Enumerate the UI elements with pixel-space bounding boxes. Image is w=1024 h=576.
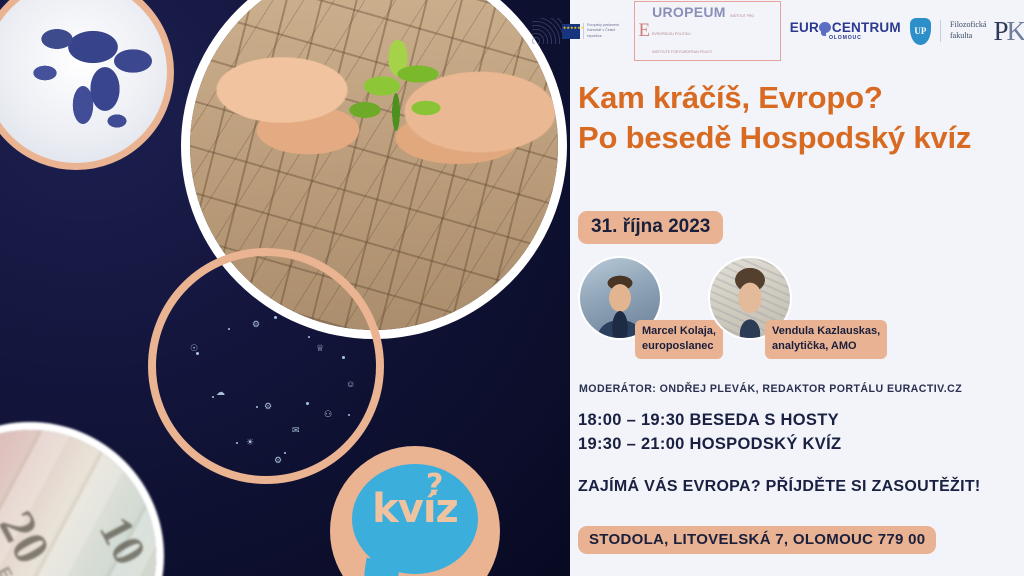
europeum-wordmark: UROPEUM bbox=[652, 4, 726, 20]
europeum-subtitle-en: INSTITUTE FOR EUROPEAN POLICY bbox=[652, 50, 712, 54]
moderator-line: MODERÁTOR: ONDŘEJ PLEVÁK, REDAKTOR PORTÁ… bbox=[579, 383, 962, 395]
parliament-logo-line2: Kancelář v České republice bbox=[587, 28, 615, 37]
speaker-1-name: Marcel Kolaja, bbox=[642, 325, 716, 337]
digital-globe-photo: ☉ ⚙ ♕ ☺ ☁ ⚙ ✉ ⚇ ☀ ⚙ bbox=[148, 248, 384, 484]
kviz-logo-label: kvíz bbox=[330, 486, 500, 532]
speaker-card-1: Marcel Kolaja, europoslanec bbox=[580, 258, 660, 338]
event-date-badge: 31. října 2023 bbox=[578, 211, 723, 244]
logo-filozoficka-fakulta: Filozofická fakulta PK bbox=[940, 20, 1024, 43]
logo-eurocentrum: EUR CENTRUM OLOMOUC bbox=[790, 21, 901, 42]
partner-logo-bar: Evropský parlament Kancelář v České repu… bbox=[532, 8, 1024, 54]
eu-flag-icon bbox=[562, 24, 580, 39]
europeum-initial: E bbox=[638, 23, 650, 38]
banknote-value-10: 10 bbox=[89, 508, 156, 573]
venue-address-badge: STODOLA, LITOVELSKÁ 7, OLOMOUC 779 00 bbox=[578, 526, 936, 554]
event-schedule: 18:00 – 19:30 BESEDA S HOSTY 19:30 – 21:… bbox=[578, 408, 841, 456]
page-title: Kam kráčíš, Evropo? Po besedě Hospodský … bbox=[578, 78, 1024, 159]
banknote-value-20: 20 bbox=[0, 501, 62, 572]
schedule-item-1: 18:00 – 19:30 BESEDA S HOSTY bbox=[578, 408, 841, 432]
eurocentrum-wordmark-part2: CENTRUM bbox=[832, 21, 901, 35]
speaker-card-2: Vendula Kazlauskas, analytička, AMO bbox=[710, 258, 790, 338]
speaker-2-name: Vendula Kazlauskas, bbox=[772, 325, 880, 337]
schedule-item-2: 19:30 – 21:00 HOSPODSKÝ KVÍZ bbox=[578, 432, 841, 456]
pk-monogram-icon: PK bbox=[993, 20, 1024, 43]
logo-european-parliament: Evropský parlament Kancelář v České repu… bbox=[532, 18, 625, 44]
logo-europeum: E UROPEUM INSTITUT PRO EVROPSKOU POLITIK… bbox=[634, 1, 780, 61]
title-line-1: Kam kráčíš, Evropo? bbox=[578, 80, 883, 115]
eurocentrum-city: OLOMOUC bbox=[790, 35, 901, 41]
faculty-name-line2: fakulta bbox=[950, 31, 972, 40]
speaker-2-role: analytička, AMO bbox=[772, 340, 857, 352]
up-olomouc-shield-icon: UP bbox=[910, 18, 931, 45]
parliament-logo-line1: Evropský parlament bbox=[587, 23, 619, 27]
globe-network-nodes: ☉ ⚙ ♕ ☺ ☁ ⚙ ✉ ⚇ ☀ ⚙ bbox=[156, 256, 376, 476]
speaker-2-name-badge: Vendula Kazlauskas, analytička, AMO bbox=[765, 320, 887, 359]
speaker-1-role: europoslanec bbox=[642, 340, 714, 352]
image-collage: ☉ ⚙ ♕ ☺ ☁ ⚙ ✉ ⚇ ☀ ⚙ 20 10 EURO EURO ? kv… bbox=[0, 0, 570, 576]
parliament-fan-icon bbox=[532, 18, 562, 44]
faculty-name-line1: Filozofická bbox=[950, 20, 986, 29]
eurocentrum-bubble-icon bbox=[819, 22, 831, 33]
title-line-2: Po besedě Hospodský kvíz bbox=[578, 120, 971, 155]
call-to-action-text: ZAJÍMÁ VÁS EVROPA? PŘÍJDĚTE SI ZASOUTĚŽI… bbox=[578, 478, 981, 496]
content-panel: Evropský parlament Kancelář v České repu… bbox=[570, 0, 1024, 576]
eurocentrum-wordmark-part1: EUR bbox=[790, 21, 819, 35]
